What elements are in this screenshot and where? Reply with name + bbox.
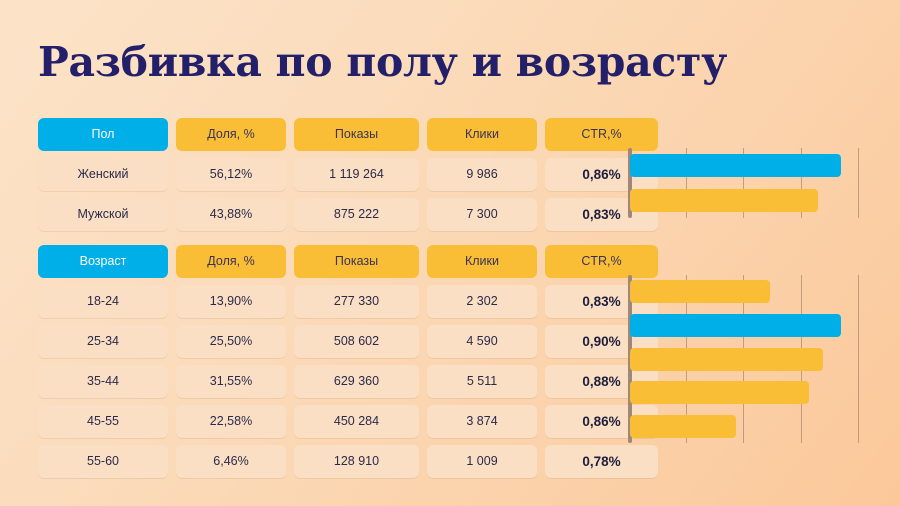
gender-cell-share: 56,12% (176, 158, 286, 191)
chart-bar-Женский (630, 154, 841, 177)
gender-col-header-impressions[interactable]: Показы (294, 118, 419, 151)
table-row: Женский 56,12% 1 119 264 9 986 0,86% (38, 158, 658, 191)
gender-cell-share: 43,88% (176, 198, 286, 231)
table-row: 25-34 25,50% 508 602 4 590 0,90% (38, 325, 658, 358)
age-cell-clicks: 2 302 (427, 285, 537, 318)
chart-bar-35-44 (630, 348, 823, 371)
gender-cell-clicks: 9 986 (427, 158, 537, 191)
age-cell-clicks: 5 511 (427, 365, 537, 398)
gender-col-header-share[interactable]: Доля, % (176, 118, 286, 151)
age-ctr-bar-chart (628, 275, 858, 443)
age-cell-share: 13,90% (176, 285, 286, 318)
slide-root: Разбивка по полу и возрасту Пол Доля, % … (0, 0, 900, 506)
gender-cell-clicks: 7 300 (427, 198, 537, 231)
gender-cell-impressions: 1 119 264 (294, 158, 419, 191)
table-row: Мужской 43,88% 875 222 7 300 0,83% (38, 198, 658, 231)
age-cell-label: 18-24 (38, 285, 168, 318)
age-table: Возраст Доля, % Показы Клики CTR,% 18-24… (38, 245, 658, 485)
chart-bar-45-55 (630, 381, 809, 404)
gender-col-header-ctr[interactable]: CTR,% (545, 118, 658, 151)
age-cell-share: 31,55% (176, 365, 286, 398)
page-title: Разбивка по полу и возрасту (38, 38, 727, 86)
age-cell-clicks: 3 874 (427, 405, 537, 438)
age-cell-impressions: 277 330 (294, 285, 419, 318)
age-cell-share: 25,50% (176, 325, 286, 358)
chart-gridline (858, 148, 859, 218)
age-col-header-label[interactable]: Возраст (38, 245, 168, 278)
age-cell-label: 35-44 (38, 365, 168, 398)
age-col-header-ctr[interactable]: CTR,% (545, 245, 658, 278)
age-cell-share: 22,58% (176, 405, 286, 438)
age-col-header-clicks[interactable]: Клики (427, 245, 537, 278)
age-cell-share: 6,46% (176, 445, 286, 478)
gender-cell-label: Мужской (38, 198, 168, 231)
age-cell-impressions: 450 284 (294, 405, 419, 438)
gender-cell-label: Женский (38, 158, 168, 191)
chart-bar-Мужской (630, 189, 818, 212)
age-table-header-row: Возраст Доля, % Показы Клики CTR,% (38, 245, 658, 278)
gender-ctr-bar-chart (628, 148, 858, 218)
age-cell-impressions: 629 360 (294, 365, 419, 398)
age-cell-clicks: 1 009 (427, 445, 537, 478)
chart-gridline (858, 275, 859, 443)
gender-col-header-clicks[interactable]: Клики (427, 118, 537, 151)
age-cell-impressions: 508 602 (294, 325, 419, 358)
gender-table: Пол Доля, % Показы Клики CTR,% Женский 5… (38, 118, 658, 238)
age-cell-label: 25-34 (38, 325, 168, 358)
table-row: 45-55 22,58% 450 284 3 874 0,86% (38, 405, 658, 438)
table-row: 55-60 6,46% 128 910 1 009 0,78% (38, 445, 658, 478)
gender-table-header-row: Пол Доля, % Показы Клики CTR,% (38, 118, 658, 151)
chart-bar-25-34 (630, 314, 841, 337)
chart-bar-55-60 (630, 415, 736, 438)
table-row: 18-24 13,90% 277 330 2 302 0,83% (38, 285, 658, 318)
age-col-header-impressions[interactable]: Показы (294, 245, 419, 278)
chart-bar-18-24 (630, 280, 770, 303)
age-cell-ctr: 0,78% (545, 445, 658, 478)
age-col-header-share[interactable]: Доля, % (176, 245, 286, 278)
age-cell-impressions: 128 910 (294, 445, 419, 478)
gender-cell-impressions: 875 222 (294, 198, 419, 231)
age-cell-label: 55-60 (38, 445, 168, 478)
age-cell-label: 45-55 (38, 405, 168, 438)
age-cell-clicks: 4 590 (427, 325, 537, 358)
table-row: 35-44 31,55% 629 360 5 511 0,88% (38, 365, 658, 398)
gender-col-header-label[interactable]: Пол (38, 118, 168, 151)
